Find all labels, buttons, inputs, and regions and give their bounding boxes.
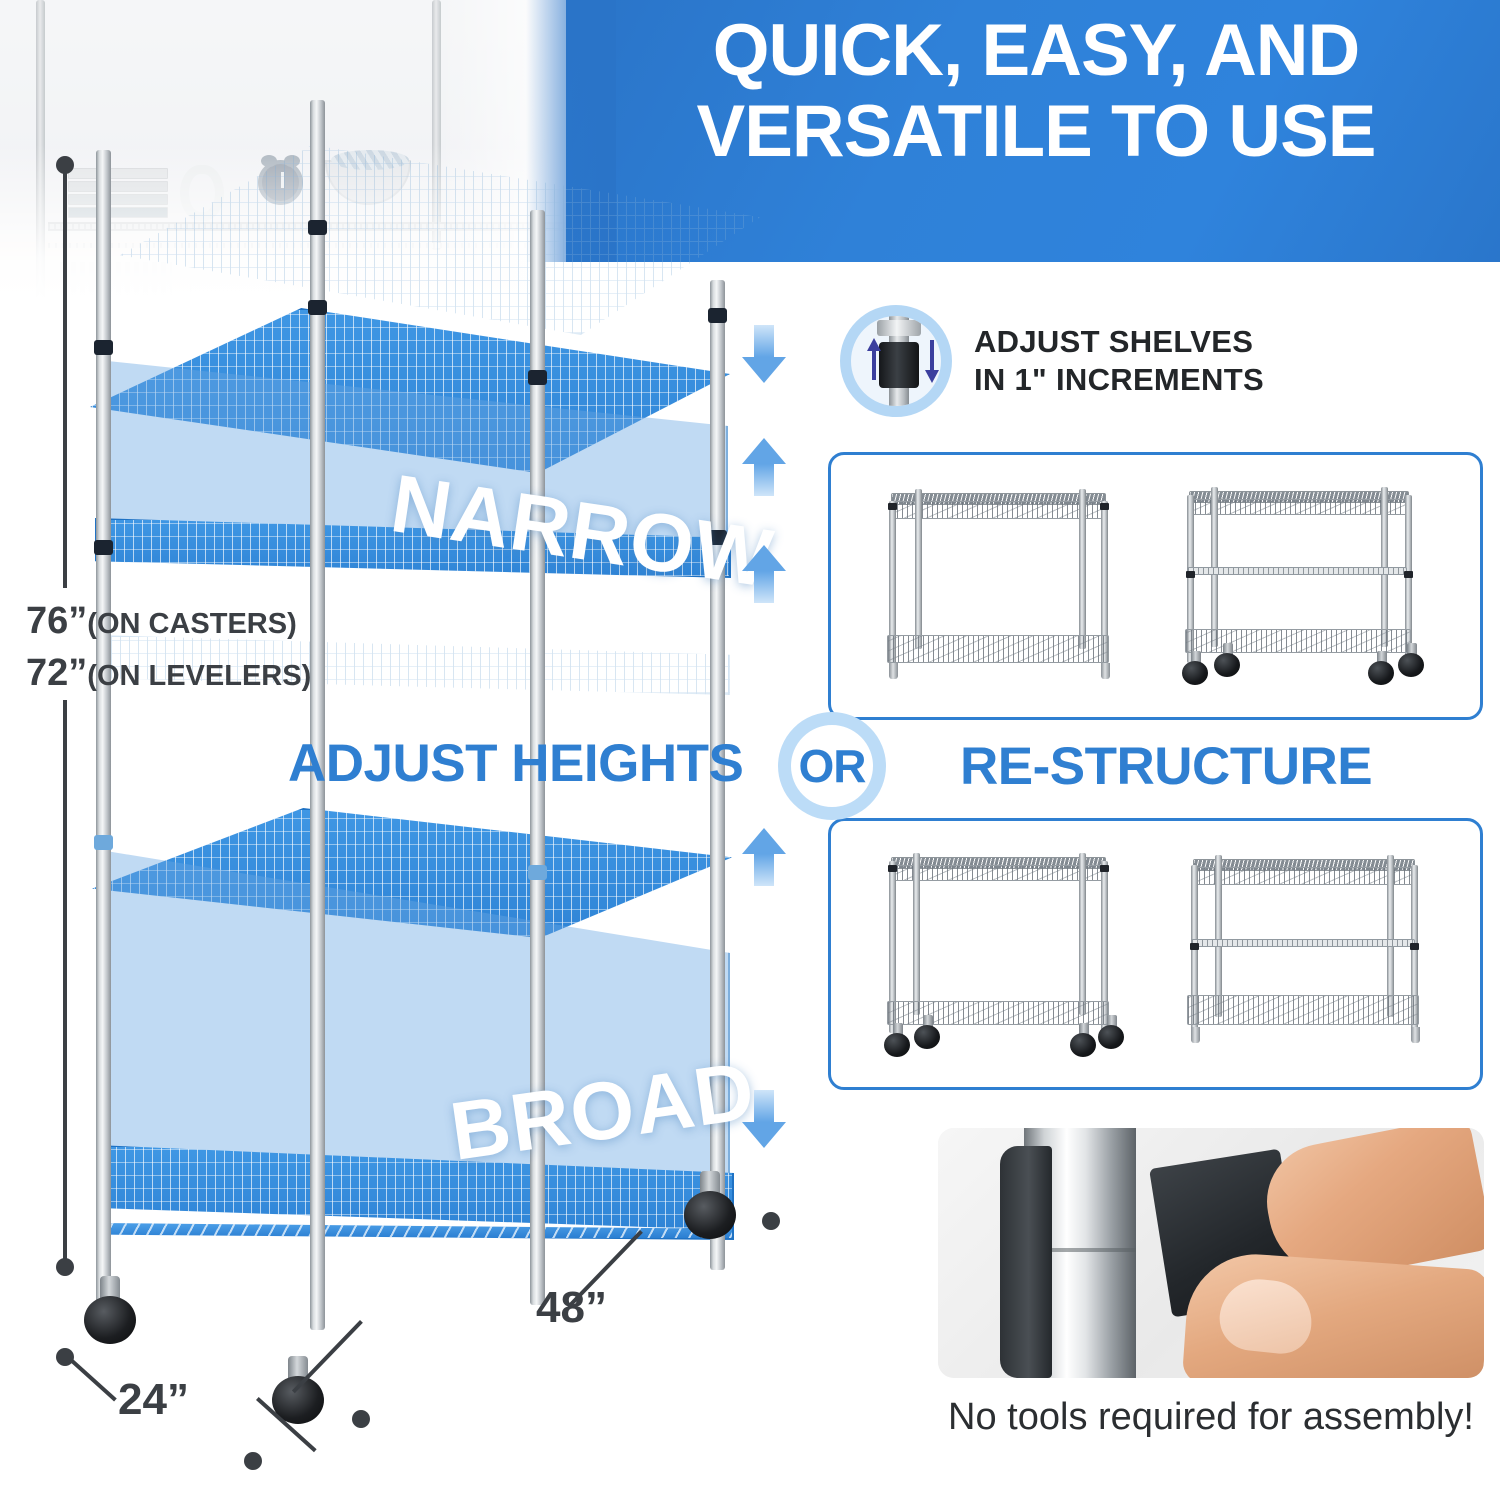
thumb-caster-3 [1069, 1025, 1099, 1055]
arrow-up-1-icon [742, 438, 786, 496]
thumb-shelf-top-deck [891, 865, 1106, 881]
post-clip-9 [528, 865, 547, 880]
arrow-head [742, 828, 786, 854]
config-thumb-three-shelf-casters[interactable] [1169, 477, 1431, 697]
arrow-down-icon [925, 370, 939, 383]
dim-height-levelers: 72”(ON LEVELERS) [26, 652, 311, 695]
post-clip-4 [308, 300, 327, 315]
post-sleeve-adjust-icon [840, 305, 952, 417]
caster-front-mid [268, 1360, 330, 1422]
black-sleeve [879, 342, 919, 388]
caster-wheel [684, 1191, 736, 1239]
caster-wheel [1182, 661, 1208, 685]
thumb-post-br [1079, 853, 1086, 1015]
thumb-shelf-top-deck [1189, 499, 1409, 515]
thumb-shelf-top-deck [891, 501, 1106, 519]
config-thumb-three-shelf-levelers[interactable] [1173, 843, 1431, 1059]
sleeve-half-attached [1000, 1146, 1052, 1378]
thumb-clip-1 [888, 503, 897, 510]
infographic-canvas: QUICK, EASY, AND VERSATILE TO USE [0, 0, 1500, 1500]
thumb-shelf-top-deck [1193, 867, 1415, 885]
dim-height-levelers-value: 72” [26, 652, 87, 694]
dim-height-dot-bottom [56, 1258, 74, 1276]
dim-depth-dot-bottom [244, 1452, 262, 1470]
dim-height-levelers-note: (ON LEVELERS) [87, 660, 311, 692]
dim-height-casters-value: 76” [26, 600, 87, 642]
adjust-shelves-text: ADJUST SHELVES IN 1" INCREMENTS [974, 323, 1264, 399]
post-clip-2 [94, 540, 113, 555]
arrow-down-top-icon [742, 325, 786, 383]
dim-height-casters-note: (ON CASTERS) [87, 608, 296, 640]
caster-wheel [1214, 653, 1240, 677]
dim-height-line-upper [63, 168, 67, 588]
thumb-caster-1 [883, 1025, 913, 1055]
thumb-caster-2 [913, 1017, 943, 1047]
thumb-caster-3 [1367, 653, 1397, 683]
thumb-clip-2 [1410, 943, 1419, 950]
thumb-post-bl [913, 853, 920, 1015]
config-thumb-two-shelf-casters[interactable] [873, 843, 1125, 1065]
adjust-shelves-line-1: ADJUST SHELVES [974, 323, 1264, 361]
adjust-shelves-line-2: IN 1" INCREMENTS [974, 361, 1264, 399]
thumb-caster-4 [1097, 1017, 1127, 1047]
configuration-panel-top [828, 452, 1483, 720]
ghost-shelf-mesh [120, 145, 760, 335]
dim-width-dot-left [352, 1410, 370, 1428]
thumb-clip-1 [1186, 571, 1195, 578]
thumb-clip-2 [1100, 503, 1109, 510]
thumb-clip-1 [1190, 943, 1199, 950]
thumb-post-br [1079, 489, 1086, 649]
arrow-shaft [754, 854, 774, 886]
arrow-shaft [754, 325, 774, 357]
headline-line-2: VERSATILE TO USE [596, 97, 1476, 168]
caster-wheel [1368, 661, 1394, 685]
arrow-down-stem [930, 340, 934, 370]
thumb-clip-1 [888, 865, 897, 872]
thumb-leveler-right [1101, 663, 1110, 679]
caster-wheel [884, 1033, 910, 1057]
page-title: QUICK, EASY, AND VERSATILE TO USE [596, 16, 1476, 168]
ghost-shelf-top [120, 145, 760, 335]
arrow-up-2-icon [742, 545, 786, 603]
post-clip-3 [308, 220, 327, 235]
adjust-shelves-callout: ADJUST SHELVES IN 1" INCREMENTS [840, 305, 1264, 417]
arrow-shaft [754, 1090, 774, 1122]
thumb-caster-4 [1397, 645, 1427, 675]
caster-front-left [80, 1280, 142, 1342]
thumb-post-bl [1215, 855, 1222, 1017]
arrow-shaft [754, 571, 774, 603]
caster-wheel [1070, 1033, 1096, 1057]
caster-right [680, 1175, 742, 1237]
dim-width-dot-right [762, 1212, 780, 1230]
arrow-shaft [754, 464, 774, 496]
arrow-head [742, 1122, 786, 1148]
config-thumb-two-shelf-levelers[interactable] [873, 477, 1123, 692]
dim-height-line-lower [63, 700, 67, 1264]
thumb-shelf-middle [1191, 939, 1415, 947]
thumb-post-br [1387, 855, 1394, 1017]
arrow-head [742, 357, 786, 383]
arrow-up-3-icon [742, 828, 786, 886]
arrow-head [742, 438, 786, 464]
or-badge: OR [778, 712, 886, 820]
thumb-caster-2 [1213, 645, 1243, 675]
caster-wheel [914, 1025, 940, 1049]
thumb-leveler-left [889, 663, 898, 679]
thumb-caster-1 [1181, 653, 1211, 683]
post-clip-6 [708, 308, 727, 323]
thumb-leveler-right [1411, 1027, 1420, 1043]
label-restructure: RE-STRUCTURE [960, 736, 1372, 797]
or-label: OR [799, 739, 866, 793]
assembly-caption: No tools required for assembly! [938, 1396, 1484, 1439]
post-clip-1 [94, 340, 113, 355]
thumb-leveler-left [1191, 1027, 1200, 1043]
caster-wheel [1098, 1025, 1124, 1049]
post-mid [310, 100, 325, 1330]
dim-width-label: 48” [536, 1283, 607, 1333]
post-front-left [96, 150, 111, 1315]
label-adjust-heights: ADJUST HEIGHTS [288, 733, 743, 794]
arrow-head [742, 545, 786, 571]
arrow-down-bottom-icon [742, 1090, 786, 1148]
thumb-clip-2 [1100, 865, 1109, 872]
caster-wheel [1398, 653, 1424, 677]
headline-line-1: QUICK, EASY, AND [713, 10, 1360, 91]
post-clip-5 [528, 370, 547, 385]
thumb-shelf-bottom-deck [1187, 995, 1419, 1025]
hand-placing-post-clip-photo [938, 1128, 1484, 1378]
dim-depth-label: 24” [118, 1375, 189, 1425]
arrow-up-stem [872, 350, 876, 380]
post-clip-8 [94, 835, 113, 850]
thumb-shelf-middle [1187, 567, 1407, 575]
post-collar [877, 320, 921, 336]
configuration-panel-bottom [828, 818, 1483, 1090]
dim-height-casters: 76”(ON CASTERS) [26, 600, 297, 643]
thumb-post-bl [915, 489, 922, 649]
thumb-shelf-bottom-deck [887, 635, 1109, 663]
caster-wheel [84, 1296, 136, 1344]
thumb-clip-2 [1404, 571, 1413, 578]
